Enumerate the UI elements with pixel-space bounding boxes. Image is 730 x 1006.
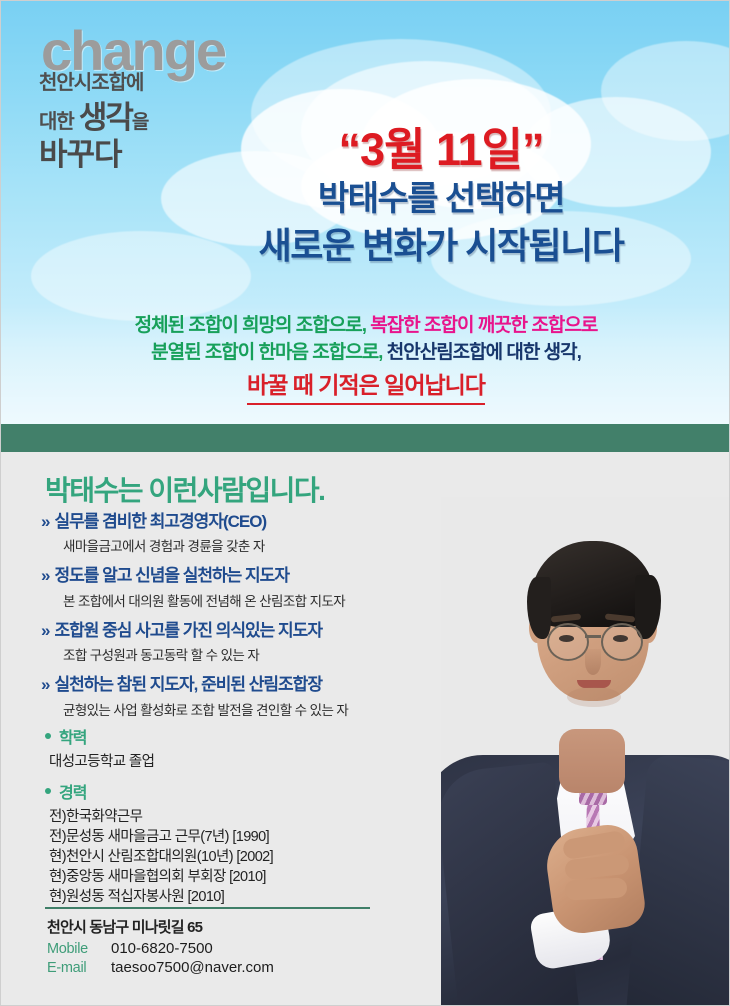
contact-block: 천안시 동남구 미나릿길 65 Mobile 010-6820-7500 E-m… (47, 916, 274, 978)
glasses-bridge (585, 635, 601, 638)
education-line: 대성고등학교 졸업 (49, 752, 154, 772)
list-item: » 정도를 알고 신념을 실천하는 지도자 본 조합에서 대의원 활동에 전념해… (41, 566, 471, 609)
slogan-line-2-green: 분열된 조합이 한마음 조합으로, (151, 342, 382, 363)
list-item-head: » 정도를 알고 신념을 실천하는 지도자 (41, 566, 471, 586)
bullet-dot-icon (45, 788, 51, 794)
logo-line-2-big: 생각 (79, 100, 132, 135)
headline-sub-2: 새로운 변화가 시작됩니다 (176, 223, 706, 268)
chin (567, 687, 621, 707)
candidate-photo (441, 497, 730, 1006)
list-item-head: » 실무를 겸비한 최고경영자(CEO) (41, 512, 471, 532)
neck (559, 729, 625, 793)
logo-line-2-tail: 을 (132, 112, 149, 133)
logo-change-word: change (41, 23, 297, 79)
headline-date: “3월 11일” (176, 126, 706, 173)
list-item-desc: 본 조합에서 대의원 활동에 전념해 온 산림조합 지도자 (63, 590, 471, 610)
double-chevron-icon: » (41, 621, 50, 641)
slogan-line-1-green: 정체된 조합이 희망의 조합으로, (135, 315, 366, 336)
list-item-title: 실천하는 참된 지도자, 준비된 산림조합장 (54, 675, 322, 695)
career-line: 현)천안시 산림조합대의원(10년) [2002] (49, 847, 273, 867)
education-block: 학력 대성고등학교 졸업 (45, 724, 154, 772)
contact-email-value: taesoo7500@naver.com (111, 959, 274, 976)
slogan-line-1-pink: 복잡한 조합이 깨끗한 조합으로 (370, 315, 597, 336)
list-item-desc: 조합 구성원과 동고동락 할 수 있는 자 (63, 644, 471, 664)
double-chevron-icon: » (41, 675, 50, 695)
list-item-head: » 실천하는 참된 지도자, 준비된 산림조합장 (41, 675, 471, 695)
nose (585, 649, 601, 675)
career-line: 현)원성동 적십자봉사원 [2010] (49, 887, 273, 907)
list-item-title: 정도를 알고 신념을 실천하는 지도자 (54, 566, 289, 586)
list-item-title: 실무를 겸비한 최고경영자(CEO) (54, 512, 266, 532)
list-item: » 실무를 겸비한 최고경영자(CEO) 새마을금고에서 경험과 경륜을 갖춘 … (41, 512, 471, 555)
headline-block: “3월 11일” 박태수를 선택하면 새로운 변화가 시작됩니다 (176, 126, 706, 268)
contact-email-row: E-mail taesoo7500@naver.com (47, 959, 274, 976)
education-header: 학력 (45, 724, 154, 748)
slogan-block: 정체된 조합이 희망의 조합으로, 복잡한 조합이 깨끗한 조합으로 분열된 조… (1, 313, 730, 405)
headline-sub-1: 박태수를 선택하면 (176, 178, 706, 221)
contact-mobile-value: 010-6820-7500 (111, 940, 213, 957)
slogan-line-1: 정체된 조합이 희망의 조합으로, 복잡한 조합이 깨끗한 조합으로 (1, 313, 730, 340)
slogan-line-3: 바꿀 때 기적은 일어납니다 (1, 367, 730, 405)
list-item: » 실천하는 참된 지도자, 준비된 산림조합장 균형있는 사업 활성화로 조합… (41, 675, 471, 718)
slogan-line-2: 분열된 조합이 한마음 조합으로, 천안산림조합에 대한 생각, (1, 340, 730, 367)
green-divider-bar (1, 424, 730, 452)
slogan-line-3-red: 바꿀 때 기적은 일어납니다 (247, 369, 485, 405)
contact-mobile-row: Mobile 010-6820-7500 (47, 940, 274, 957)
double-chevron-icon: » (41, 566, 50, 586)
career-line: 현)중앙동 새마을협의회 부회장 [2010] (49, 867, 273, 887)
glasses-lens-left (547, 623, 589, 661)
campaign-poster: change 천안시조합에 대한생각을 바꾸다 “3월 11일” 박태수를 선택… (0, 0, 730, 1006)
contact-email-label: E-mail (47, 960, 111, 976)
list-item-title: 조합원 중심 사고를 가진 의식있는 지도자 (54, 621, 322, 641)
career-header: 경력 (45, 779, 273, 803)
contact-address: 천안시 동남구 미나릿길 65 (47, 916, 274, 937)
qualification-list: » 실무를 겸비한 최고경영자(CEO) 새마을금고에서 경험과 경륜을 갖춘 … (41, 512, 471, 730)
contact-divider (45, 907, 370, 909)
career-label: 경력 (59, 779, 86, 803)
slogan-line-2-navy: 천안산림조합에 대한 생각, (387, 342, 581, 363)
career-line: 전)문성동 새마을금고 근무(7년) [1990] (49, 827, 273, 847)
list-item-desc: 균형있는 사업 활성화로 조합 발전을 견인할 수 있는 자 (63, 699, 471, 719)
page-title: 박태수는 이런사람입니다. (45, 469, 324, 509)
list-item-desc: 새마을금고에서 경험과 경륜을 갖춘 자 (63, 535, 471, 555)
finger (565, 877, 628, 900)
glasses-lens-right (601, 623, 643, 661)
career-block: 경력 전)한국화약근무 전)문성동 새마을금고 근무(7년) [1990] 현)… (45, 779, 273, 907)
bullet-dot-icon (45, 733, 51, 739)
double-chevron-icon: » (41, 512, 50, 532)
education-label: 학력 (59, 724, 86, 748)
career-line: 전)한국화약근무 (49, 807, 273, 827)
logo-line-2-small: 대한 (39, 111, 74, 133)
list-item-head: » 조합원 중심 사고를 가진 의식있는 지도자 (41, 621, 471, 641)
contact-mobile-label: Mobile (47, 941, 111, 957)
list-item: » 조합원 중심 사고를 가진 의식있는 지도자 조합 구성원과 동고동락 할 … (41, 621, 471, 664)
